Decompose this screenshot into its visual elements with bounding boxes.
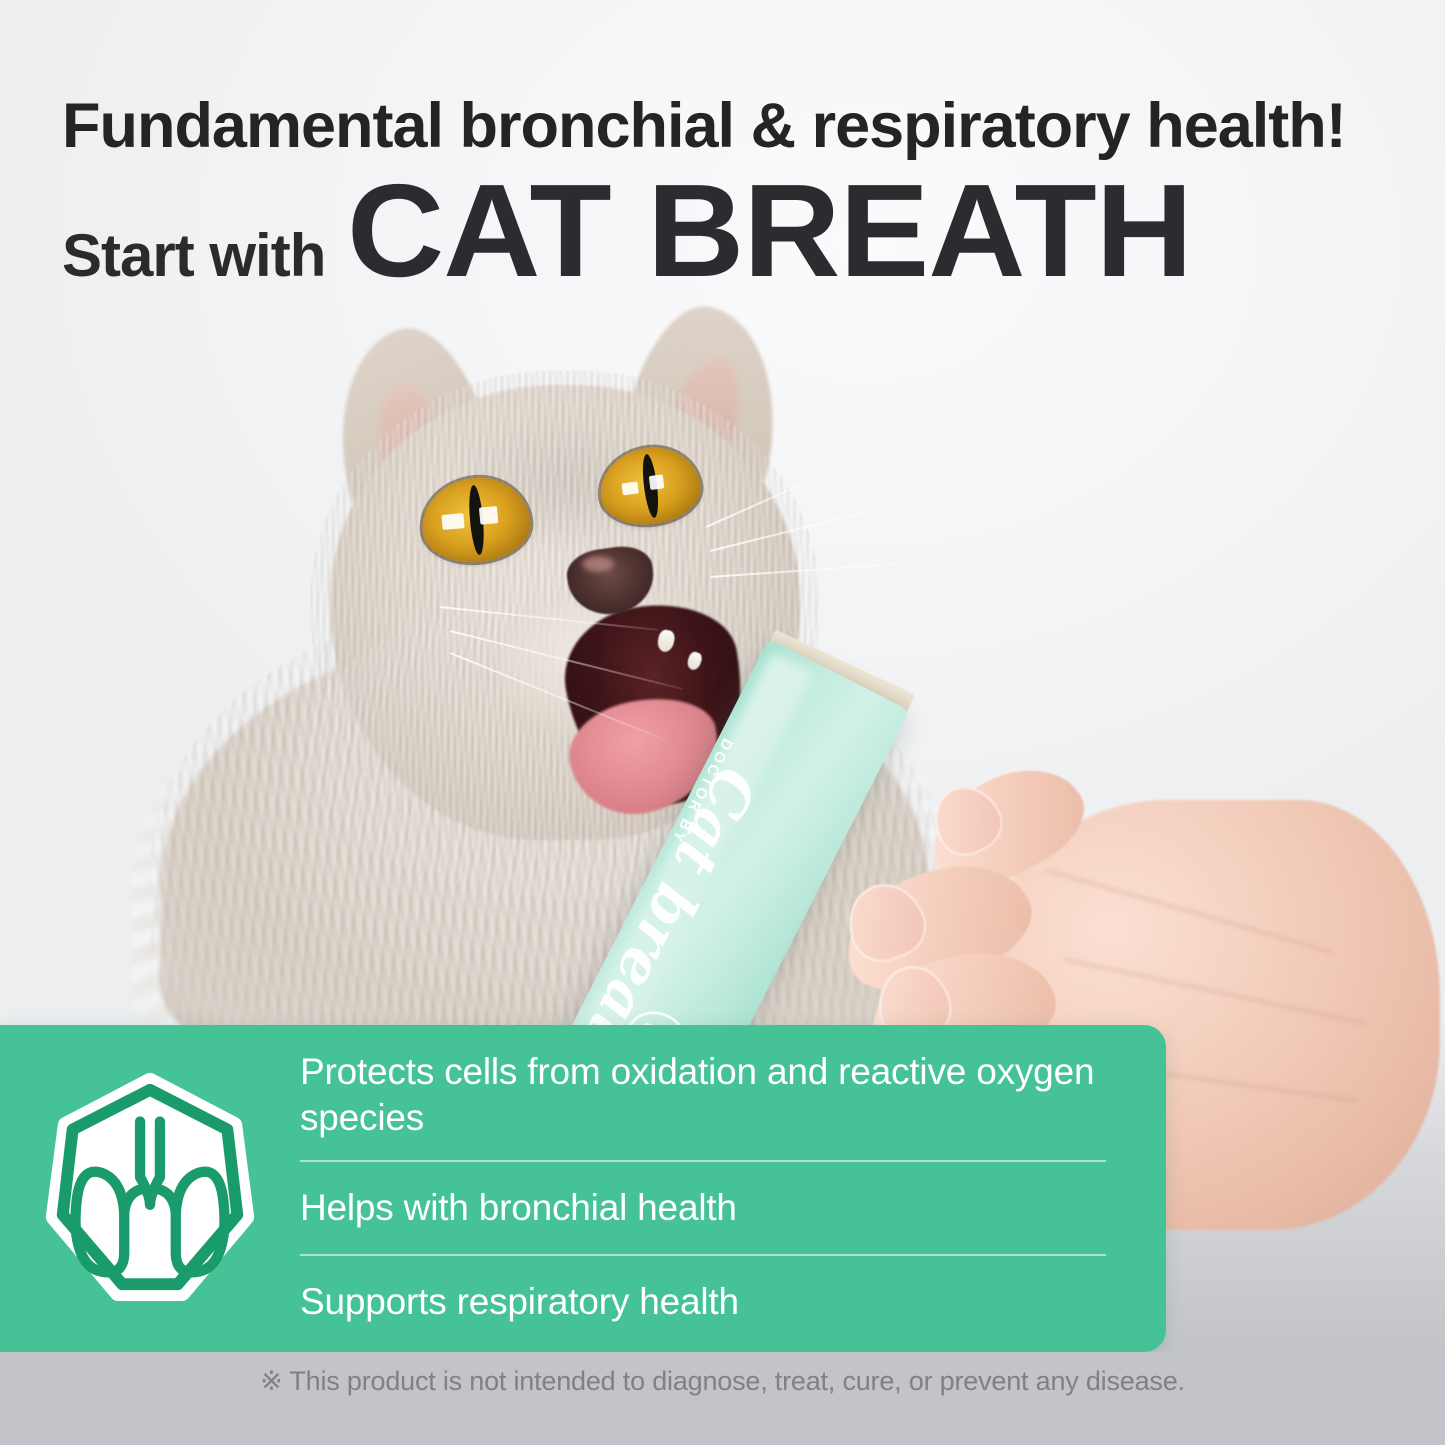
benefit-item-2: Helps with bronchial health <box>300 1162 1106 1254</box>
benefits-panel: Protects cells from oxidation and reacti… <box>0 1025 1166 1352</box>
cat-nose-highlight <box>582 556 614 572</box>
brand-title: CAT BREATH <box>347 172 1192 291</box>
benefit-item-1: Protects cells from oxidation and reacti… <box>300 1030 1106 1160</box>
benefits-list: Protects cells from oxidation and reacti… <box>300 1030 1166 1348</box>
eye-glint <box>479 506 498 525</box>
eye-glint <box>621 482 638 496</box>
product-marketing-image: DOCTOR BY Cat breath <box>0 0 1445 1445</box>
eye-glint <box>441 513 464 530</box>
lungs-hexagon-icon <box>0 1070 300 1308</box>
headline-line-1: Fundamental bronchial & respiratory heal… <box>62 90 1346 162</box>
eye-glint <box>649 474 665 490</box>
footer-band: ※ This product is not intended to diagno… <box>0 1352 1445 1445</box>
headline-prefix: Start with <box>62 221 325 290</box>
disclaimer-text: ※ This product is not intended to diagno… <box>260 1366 1185 1397</box>
benefit-item-3: Supports respiratory health <box>300 1256 1106 1348</box>
headline-line-2: Start with CAT BREATH <box>62 172 1176 291</box>
